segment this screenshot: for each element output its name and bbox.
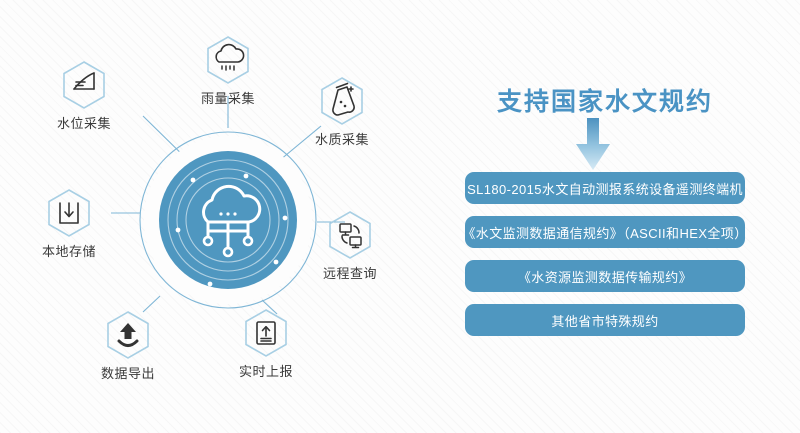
download-box-icon: [46, 188, 92, 238]
node-remote-query[interactable]: 远程查询: [290, 210, 410, 282]
node-label: 水位采集: [24, 113, 144, 132]
infographic-canvas: 水位采集 雨量采集: [0, 0, 800, 433]
node-local-storage[interactable]: 本地存储: [9, 188, 129, 260]
node-rainfall[interactable]: 雨量采集: [168, 35, 288, 107]
protocol-panel: 支持国家水文规约 SL180-2015水文自动测报系统设备遥测终端机 《水文监测…: [455, 0, 800, 433]
node-label: 本地存储: [9, 241, 129, 260]
hub-and-spoke-diagram: 水位采集 雨量采集: [0, 0, 460, 433]
node-realtime-report[interactable]: 实时上报: [206, 308, 326, 380]
upload-report-icon: [243, 308, 289, 358]
panel-headline: 支持国家水文规约: [455, 82, 755, 118]
node-data-export[interactable]: 数据导出: [68, 310, 188, 382]
protocol-item[interactable]: 《水资源监测数据传输规约》: [465, 260, 745, 292]
node-water-level[interactable]: 水位采集: [24, 60, 144, 132]
cloud-icon-dots: [219, 212, 236, 215]
protocol-item[interactable]: 其他省市特殊规约: [465, 304, 745, 336]
node-label: 数据导出: [68, 363, 188, 382]
node-label: 实时上报: [206, 361, 326, 380]
protocol-item[interactable]: 《水文监测数据通信规约》（ASCII和HEX全项）: [465, 216, 745, 248]
flask-icon: [319, 76, 365, 126]
down-arrow-icon: [568, 118, 618, 174]
rain-cloud-icon: [205, 35, 251, 85]
upload-export-icon: [105, 310, 151, 360]
protocol-item[interactable]: SL180-2015水文自动测报系统设备遥测终端机: [465, 172, 745, 204]
node-water-quality[interactable]: 水质采集: [282, 76, 402, 148]
node-label: 远程查询: [290, 263, 410, 282]
water-level-icon: [61, 60, 107, 110]
network-terminal-icon: [327, 210, 373, 260]
node-label: 水质采集: [282, 129, 402, 148]
hub-disc: [159, 151, 297, 289]
node-label: 雨量采集: [168, 88, 288, 107]
